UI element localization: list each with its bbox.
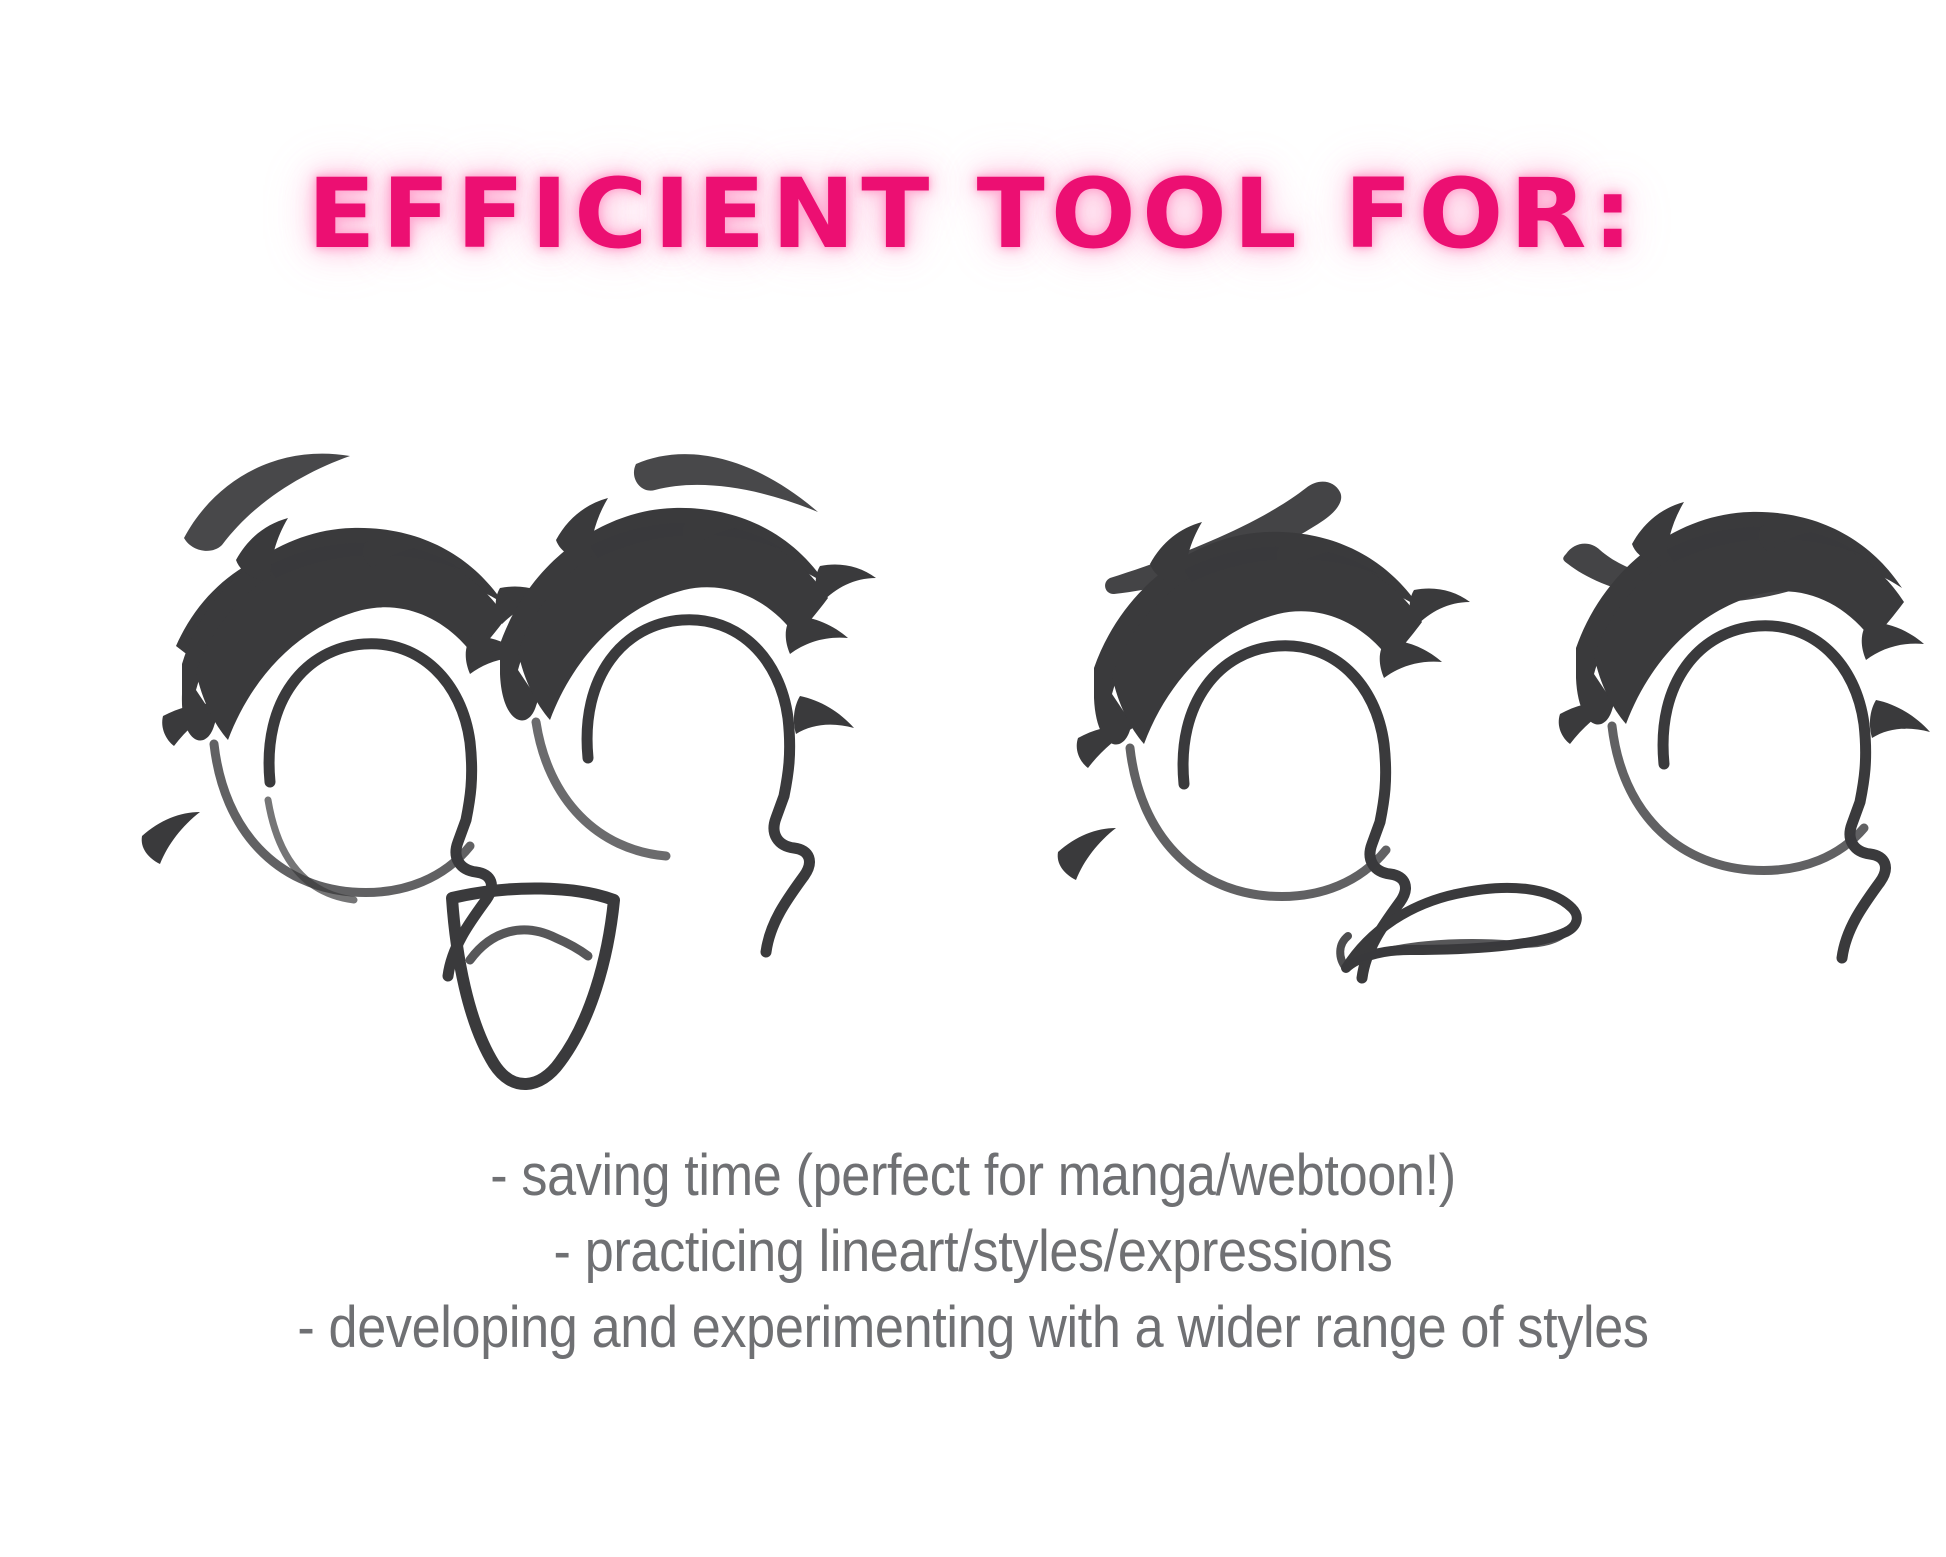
right-eye-lash-3	[786, 616, 848, 654]
left-face	[142, 454, 876, 1084]
right-eye-lash-4	[816, 565, 876, 603]
rf-right-eye-lower-line	[1612, 726, 1864, 871]
rf-left-eye-lower-line	[1130, 748, 1386, 897]
rf-left-eye-lash-5	[1380, 640, 1442, 678]
bullet-item-1: - saving time (perfect for manga/webtoon…	[97, 1138, 1848, 1214]
left-mouth-tongue	[470, 930, 588, 960]
right-face	[1058, 482, 1930, 978]
rf-right-eye-iris	[1663, 626, 1885, 958]
left-face-left-eye	[142, 518, 556, 976]
rf-right-eye-lash-4	[1862, 622, 1924, 660]
rf-right-eye-lash-5	[1870, 700, 1930, 738]
page-root: EFFICIENT TOOL FOR:	[0, 0, 1946, 1557]
rf-left-eye-iris	[1183, 646, 1405, 978]
left-eye-lower-line	[214, 744, 470, 893]
right-eye-iris	[587, 620, 809, 952]
bullet-item-3: - developing and experimenting with a wi…	[97, 1290, 1848, 1366]
right-eye-lower-line	[536, 722, 666, 856]
right-mouth-corner-left	[1340, 936, 1348, 968]
left-face-right-eyebrow	[634, 454, 818, 512]
right-mouth-inner-line	[1352, 930, 1568, 962]
left-eye-lower-line-2	[268, 800, 354, 900]
rf-left-eye-lash-6	[1410, 589, 1470, 627]
rf-left-eye-lash-4	[1058, 828, 1116, 880]
bullet-item-2: - practicing lineart/styles/expressions	[97, 1214, 1848, 1290]
right-eye-lash-5	[794, 696, 854, 734]
left-eye-lash-2	[142, 812, 200, 864]
right-mouth-outline	[1346, 888, 1577, 968]
right-face-mouth	[1340, 888, 1577, 968]
bullet-list: - saving time (perfect for manga/webtoon…	[0, 1138, 1946, 1366]
